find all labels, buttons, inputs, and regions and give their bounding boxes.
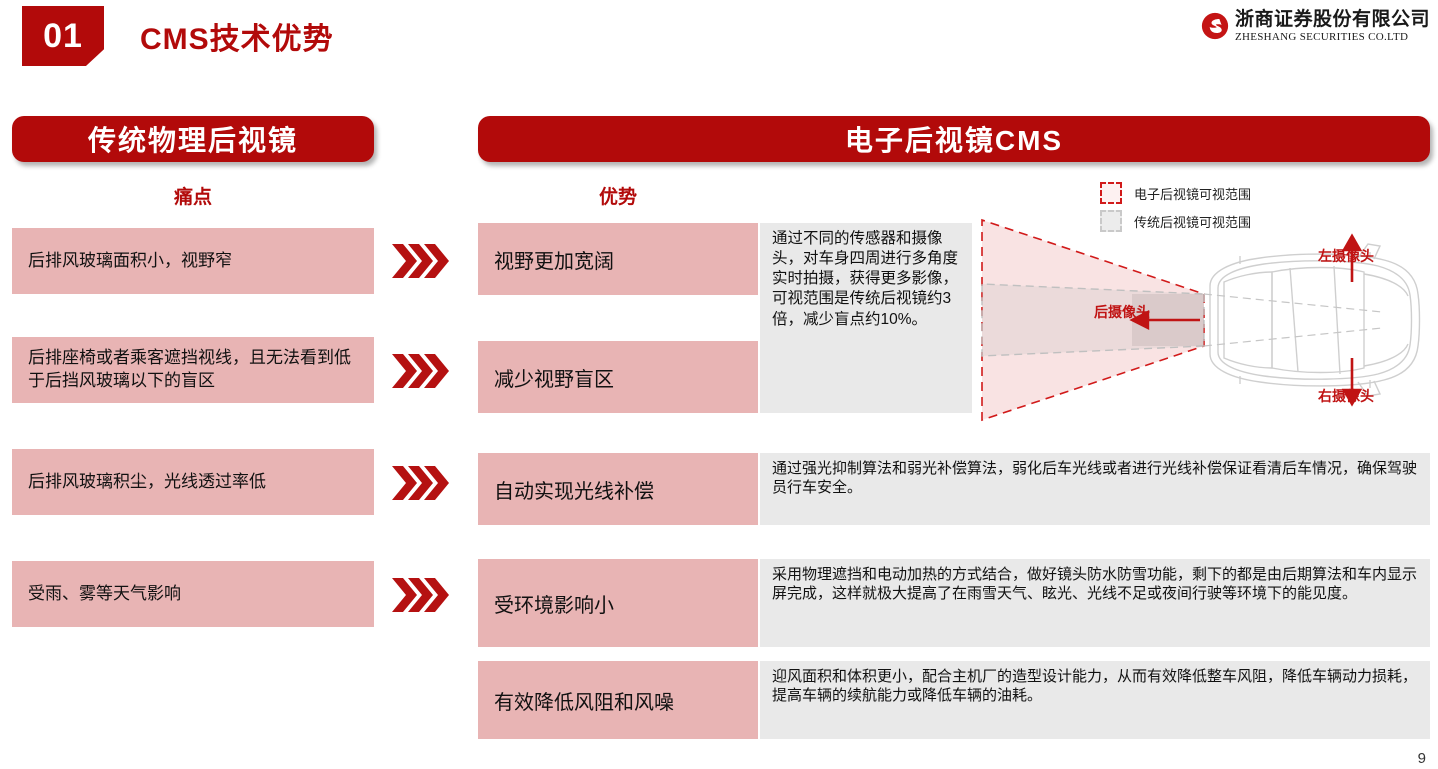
legend-swatch-electronic-icon [1100,182,1122,204]
column-label-advantages: 优势 [478,182,758,209]
page-title: CMS技术优势 [140,14,334,58]
triple-chevron-right-icon [390,463,452,503]
advantage-cell: 受环境影响小 [478,559,758,647]
logo-company-name-cn: 浙商证券股份有限公司 [1235,10,1430,29]
logo-company-name-en: ZHESHANG SECURITIES CO.LTD [1235,32,1430,43]
triple-chevron-right-icon [390,241,452,281]
page-number: 9 [1418,750,1426,767]
pain-point-cell: 受雨、雾等天气影响 [12,561,374,627]
pain-point-cell: 后排风玻璃面积小，视野窄 [12,228,374,294]
legend-label-electronic: 电子后视镜可视范围 [1134,184,1251,203]
section-number-badge: 01 [22,6,104,66]
company-logo: 浙商证券股份有限公司 ZHESHANG SECURITIES CO.LTD [1201,4,1430,48]
rear-camera-label: 后摄像头 [1094,302,1150,322]
pain-point-cell: 后排座椅或者乘客遮挡视线，且无法看到低于后挡风玻璃以下的盲区 [12,337,374,403]
advantage-description: 通过强光抑制算法和弱光补偿算法，弱化后车光线或者进行光线补偿保证看清后车情况，确… [760,453,1430,525]
logo-text-block: 浙商证券股份有限公司 ZHESHANG SECURITIES CO.LTD [1235,10,1430,43]
triple-chevron-right-icon [390,575,452,615]
zheshang-circle-logo-icon [1201,12,1229,40]
advantage-cell: 有效降低风阻和风噪 [478,661,758,739]
advantage-description: 迎风面积和体积更小，配合主机厂的造型设计能力，从而有效降低整车风阻，降低车辆动力… [760,661,1430,739]
triple-chevron-right-icon [390,351,452,391]
pain-point-cell: 后排风玻璃积尘，光线透过率低 [12,449,374,515]
banner-traditional-mirror: 传统物理后视镜 [12,116,374,162]
advantage-cell: 自动实现光线补偿 [478,453,758,525]
right-camera-label: 右摄像头 [1318,386,1374,406]
car-top-view-field-of-view-diagram: 后摄像头 左摄像头 右摄像头 [972,216,1434,424]
advantage-description: 通过不同的传感器和摄像头，对车身四周进行多角度实时拍摄，获得更多影像，可视范围是… [760,223,972,413]
advantage-cell: 减少视野盲区 [478,341,758,413]
column-label-pain-points: 痛点 [12,182,374,209]
slide-header: 01 CMS技术优势 浙商证券股份有限公司 ZHESHANG SECURITIE… [0,0,1438,78]
legend-item-electronic: 电子后视镜可视范围 [1100,182,1430,204]
left-camera-label: 左摄像头 [1318,246,1374,266]
banner-electronic-mirror: 电子后视镜CMS [478,116,1430,162]
advantage-cell: 视野更加宽阔 [478,223,758,295]
advantage-description: 采用物理遮挡和电动加热的方式结合，做好镜头防水防雪功能，剩下的都是由后期算法和车… [760,559,1430,647]
